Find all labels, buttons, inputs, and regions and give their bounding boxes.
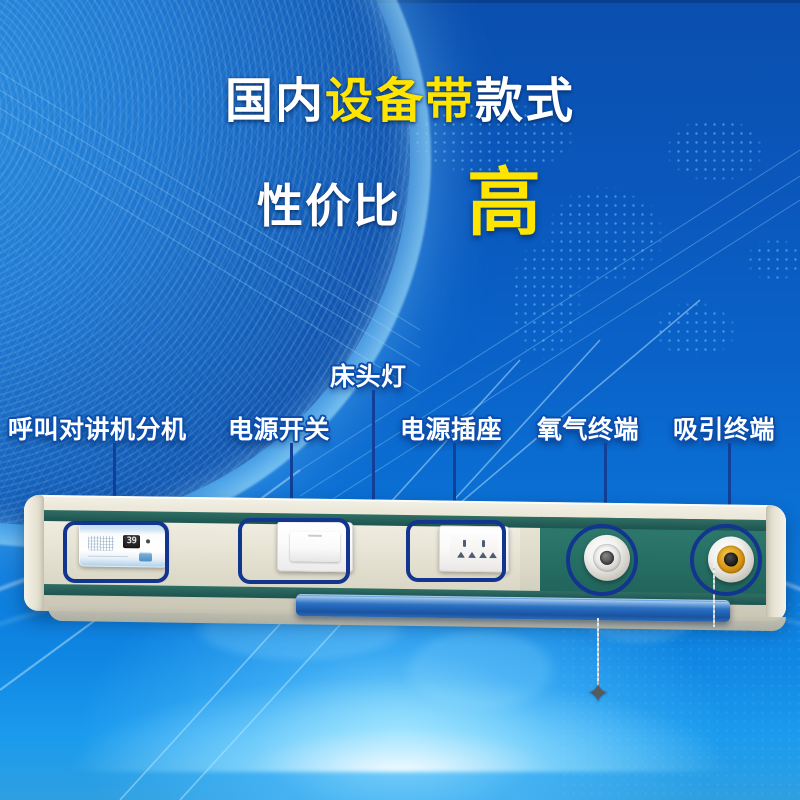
highlight-circle-suction	[690, 524, 762, 596]
headline-seg-2: 设备带	[325, 75, 475, 128]
pull-cord-weight-icon[interactable]: ✦	[585, 680, 611, 706]
highlight-circle-oxygen	[566, 524, 638, 596]
headline-seg-1: 国内	[225, 75, 325, 128]
headline-emphasis: 高	[467, 161, 543, 244]
callout-bed-lamp: 床头灯	[330, 357, 407, 393]
poster-canvas: 国内设备带款式 性价比高 呼叫对讲机分机 电源开关 床头灯 电源插座 氧气终端 …	[0, 0, 800, 800]
callout-nurse-call-intercom: 呼叫对讲机分机	[8, 410, 187, 446]
headline-block: 国内设备带款式 性价比高	[0, 78, 800, 250]
bed-lamp-pull-cord[interactable]	[597, 618, 599, 686]
highlight-box-switch	[238, 518, 350, 584]
headline-line-1: 国内设备带款式	[0, 78, 800, 127]
callout-power-socket: 电源插座	[400, 410, 502, 446]
panel-right-endcap	[766, 505, 786, 621]
highlight-box-intercom	[63, 521, 169, 583]
callout-suction-terminal: 吸引终端	[673, 410, 775, 446]
headline-line-2: 性价比高	[0, 143, 800, 250]
headline-seg-3: 款式	[475, 75, 575, 128]
panel-left-endcap	[24, 495, 44, 611]
callout-power-switch: 电源开关	[228, 410, 330, 446]
callout-oxygen-terminal: 氧气终端	[537, 410, 639, 446]
highlight-box-socket	[406, 520, 506, 582]
headline-seg-4: 性价比	[257, 180, 401, 232]
